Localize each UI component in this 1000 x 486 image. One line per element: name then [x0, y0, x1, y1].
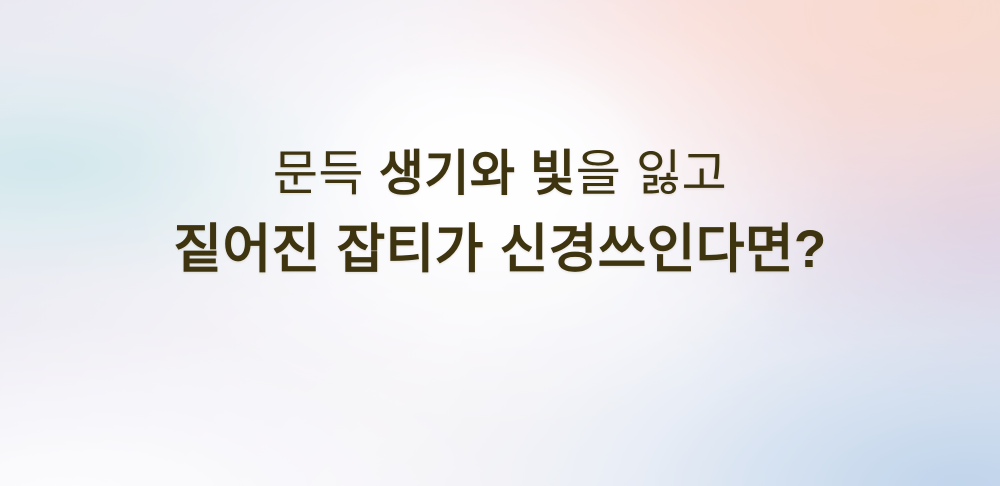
headline-segment-question: 신경쓰인다면?	[500, 220, 827, 279]
headline: 문득생기와빛을잃고 짙어진잡티가신경쓰인다면?	[0, 150, 1000, 276]
headline-segment-emphasis: 빛	[530, 147, 576, 201]
headline-line-2: 짙어진잡티가신경쓰인다면?	[0, 223, 1000, 276]
headline-segment: 문득	[273, 147, 364, 201]
promo-banner: 문득생기와빛을잃고 짙어진잡티가신경쓰인다면?	[0, 0, 1000, 486]
headline-segment-emphasis: 잡티가	[336, 220, 483, 279]
headline-segment-emphasis: 생기와	[379, 147, 516, 201]
headline-line-1: 문득생기와빛을잃고	[0, 150, 1000, 199]
headline-segment: 잃고	[636, 147, 727, 201]
headline-segment: 을	[576, 147, 622, 201]
headline-segment-emphasis: 짙어진	[173, 220, 320, 279]
